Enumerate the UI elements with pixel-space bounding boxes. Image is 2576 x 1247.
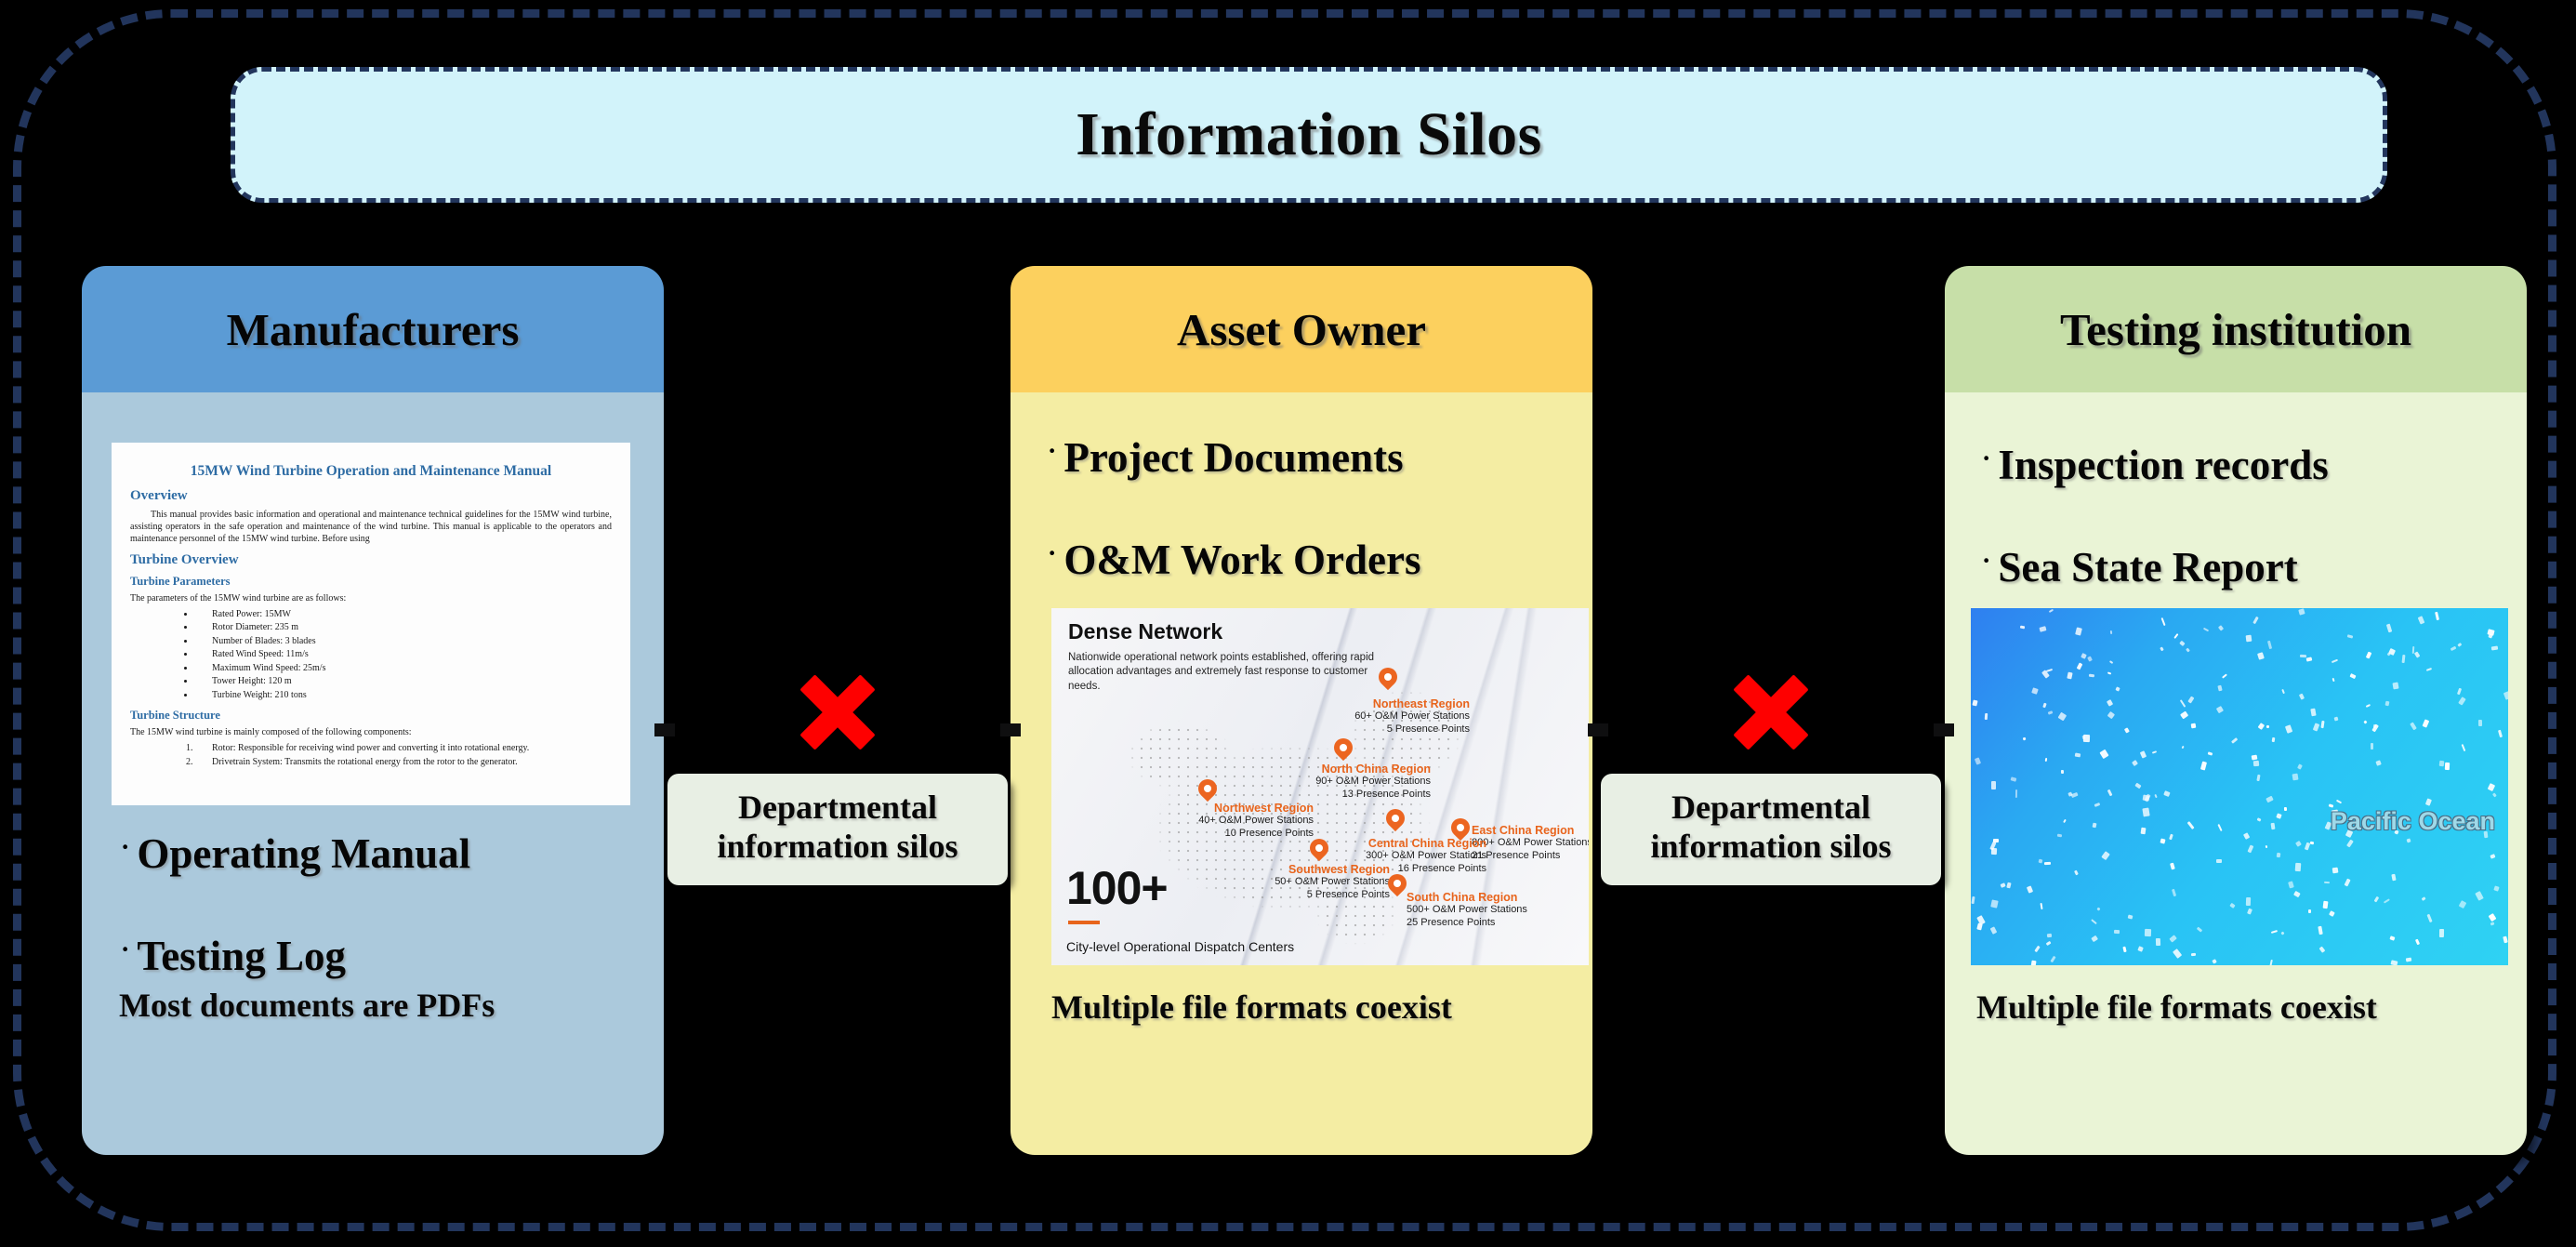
doc-overview-text: This manual provides basic information a… xyxy=(130,509,612,546)
doc-heading-turbine-parameters: Turbine Parameters xyxy=(130,575,612,589)
list-item: Number of Blades: 3 blades xyxy=(195,635,612,649)
connector-label-box: Departmental information silos xyxy=(667,774,1008,885)
panel-testing-header: Testing institution xyxy=(1945,266,2527,392)
region-name: North China Region xyxy=(1217,763,1431,776)
region-stations: 500+ O&M Power Stations xyxy=(1407,904,1527,917)
map-title: Dense Network xyxy=(1068,619,1222,644)
bullet-label: Operating Manual xyxy=(137,829,470,878)
doc-parameter-list: Rated Power: 15MW Rotor Diameter: 235 m … xyxy=(130,608,612,703)
panel-asset-owner-body: · Project Documents · O&M Work Orders De… xyxy=(1011,392,1592,1155)
bullet-dot-icon: · xyxy=(119,932,131,967)
region-name: Northeast Region xyxy=(1258,697,1470,710)
doc-title: 15MW Wind Turbine Operation and Maintena… xyxy=(130,463,612,480)
list-item: Rotor Diameter: 235 m xyxy=(195,621,612,635)
map-pin-central-china[interactable] xyxy=(1386,809,1405,835)
manufacturers-caption: Most documents are PDFs xyxy=(119,986,495,1025)
list-item: · Testing Log xyxy=(119,932,641,980)
panel-manufacturers-header: Manufacturers xyxy=(82,266,664,392)
ocean-label: Pacific Ocean xyxy=(2331,807,2495,836)
map-big-caption: City-level Operational Dispatch Centers xyxy=(1066,939,1294,954)
bullet-dot-icon: · xyxy=(1980,441,1992,476)
region-name: Central China Region xyxy=(1273,837,1486,850)
connector-label: Departmental information silos xyxy=(677,789,998,867)
bullet-dot-icon: · xyxy=(119,829,131,865)
list-item: Turbine Weight: 210 tons xyxy=(195,689,612,703)
connector-line-left xyxy=(654,723,675,736)
list-item: · Inspection records xyxy=(1980,441,2508,489)
list-item: · Operating Manual xyxy=(119,829,641,878)
red-cross-icon xyxy=(1728,670,1814,755)
page-title: Information Silos xyxy=(1076,99,1542,170)
map-region-northwest: Northwest Region 40+ O&M Power Stations … xyxy=(1107,802,1314,841)
list-item: · Sea State Report xyxy=(1980,543,2508,591)
bullet-label: Testing Log xyxy=(137,932,346,980)
bullet-dot-icon: · xyxy=(1046,433,1058,469)
list-item: · O&M Work Orders xyxy=(1046,536,1574,584)
doc-params-intro: The parameters of the 15MW wind turbine … xyxy=(130,592,612,604)
panel-manufacturers-title: Manufacturers xyxy=(227,303,520,356)
region-name: Northwest Region xyxy=(1107,802,1314,815)
panel-testing-body: · Inspection records · Sea State Report … xyxy=(1945,392,2527,1155)
operation-manual-document-thumbnail: 15MW Wind Turbine Operation and Maintena… xyxy=(112,443,630,805)
panel-asset-owner-header: Asset Owner xyxy=(1011,266,1592,392)
connector-label-box: Departmental information silos xyxy=(1601,774,1941,885)
doc-structure-intro: The 15MW wind turbine is mainly composed… xyxy=(130,726,612,738)
map-pin-north-china[interactable] xyxy=(1334,738,1353,764)
map-pin-southwest[interactable] xyxy=(1310,839,1328,865)
asset-owner-caption: Multiple file formats coexist xyxy=(1051,988,1452,1027)
dense-network-map-infographic: Dense Network Nationwide operational net… xyxy=(1051,608,1589,965)
bullet-label: Project Documents xyxy=(1063,433,1403,482)
sea-state-ocean-map-thumbnail: Pacific Ocean xyxy=(1971,608,2508,965)
list-item: Maximum Wind Speed: 25m/s xyxy=(195,662,612,676)
region-stations: 300+ O&M Power Stations xyxy=(1273,850,1486,863)
bullet-dot-icon: · xyxy=(1046,536,1058,571)
region-points: 13 Presence Points xyxy=(1217,789,1431,802)
region-points: 5 Presence Points xyxy=(1193,889,1390,902)
doc-heading-turbine-structure: Turbine Structure xyxy=(130,709,612,723)
map-region-south-china: South China Region 500+ O&M Power Statio… xyxy=(1407,891,1527,930)
list-item: Drivetrain System: Transmits the rotatio… xyxy=(195,756,612,770)
connector-label: Departmental information silos xyxy=(1610,789,1932,867)
map-accent-rule xyxy=(1068,921,1100,924)
page-title-banner: Information Silos xyxy=(231,67,2387,203)
region-stations: 90+ O&M Power Stations xyxy=(1217,776,1431,789)
map-pin-south-china[interactable] xyxy=(1388,874,1407,900)
connector-line-right xyxy=(1934,723,1954,736)
region-stations: 50+ O&M Power Stations xyxy=(1193,876,1390,889)
connector-line-left xyxy=(1588,723,1608,736)
list-item: Tower Height: 120 m xyxy=(195,675,612,689)
map-big-number: 100+ xyxy=(1066,861,1168,915)
panel-manufacturers[interactable]: Manufacturers 15MW Wind Turbine Operatio… xyxy=(82,266,664,1155)
region-stations: 800+ O&M Power Stations xyxy=(1472,837,1589,850)
panel-manufacturers-body: 15MW Wind Turbine Operation and Maintena… xyxy=(82,392,664,1155)
map-subtitle: Nationwide operational network points es… xyxy=(1068,651,1384,694)
panel-asset-owner[interactable]: Asset Owner · Project Documents · O&M Wo… xyxy=(1011,266,1592,1155)
connector-line-right xyxy=(1000,723,1021,736)
red-cross-icon xyxy=(795,670,880,755)
bullet-label: Sea State Report xyxy=(1998,543,2297,591)
region-name: East China Region xyxy=(1472,824,1589,837)
doc-heading-turbine-overview: Turbine Overview xyxy=(130,552,612,568)
list-item: Rotor: Responsible for receiving wind po… xyxy=(195,742,612,756)
map-region-north-china: North China Region 90+ O&M Power Station… xyxy=(1217,763,1431,802)
map-region-northeast: Northeast Region 60+ O&M Power Stations … xyxy=(1258,697,1470,736)
doc-heading-overview: Overview xyxy=(130,488,612,504)
panel-testing-institution[interactable]: Testing institution · Inspection records… xyxy=(1945,266,2527,1155)
region-stations: 40+ O&M Power Stations xyxy=(1107,815,1314,828)
panel-asset-owner-title: Asset Owner xyxy=(1177,303,1426,356)
list-item: Rated Power: 15MW xyxy=(195,608,612,622)
region-points: 21 Presence Points xyxy=(1472,850,1589,863)
doc-structure-list: Rotor: Responsible for receiving wind po… xyxy=(130,742,612,769)
region-points: 5 Presence Points xyxy=(1258,723,1470,736)
map-pin-northeast[interactable] xyxy=(1379,668,1397,694)
map-region-east-china: East China Region 800+ O&M Power Station… xyxy=(1472,824,1589,863)
map-region-southwest: Southwest Region 50+ O&M Power Stations … xyxy=(1193,863,1390,902)
bullet-label: Inspection records xyxy=(1998,441,2328,489)
region-name: South China Region xyxy=(1407,891,1527,904)
list-item: · Project Documents xyxy=(1046,433,1574,482)
panel-testing-title: Testing institution xyxy=(2060,303,2411,356)
bullet-label: O&M Work Orders xyxy=(1063,536,1420,584)
region-name: Southwest Region xyxy=(1193,863,1390,876)
asset-owner-bullet-list: · Project Documents · O&M Work Orders xyxy=(1046,433,1574,638)
testing-caption: Multiple file formats coexist xyxy=(1976,988,2377,1027)
region-stations: 60+ O&M Power Stations xyxy=(1258,710,1470,723)
list-item: Rated Wind Speed: 11m/s xyxy=(195,648,612,662)
region-points: 25 Presence Points xyxy=(1407,917,1527,930)
bullet-dot-icon: · xyxy=(1980,543,1992,578)
